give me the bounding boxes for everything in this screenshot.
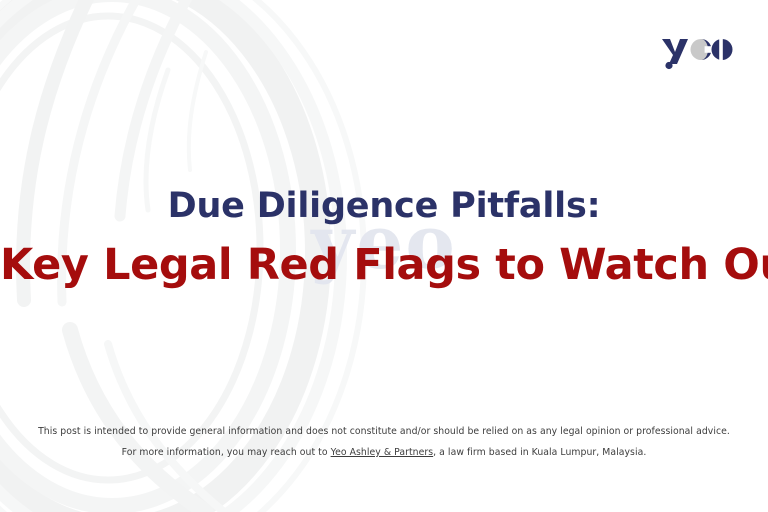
disclaimer-line-2-suffix: , a law firm based in Kuala Lumpur, Mala… [433,447,646,458]
logo-letter-o-icon [712,38,733,61]
disclaimer-line-2-prefix: For more information, you may reach out … [122,447,331,458]
post-card: yeo Due Diligence Pitfalls: Key Legal Re… [0,0,768,512]
headline-block: Due Diligence Pitfalls: Key Legal Red Fl… [0,186,768,291]
footer-disclaimer: This post is intended to provide general… [0,425,768,460]
logo-letter-e-icon [691,39,712,60]
logo-letter-y-icon [662,39,688,69]
page-title-line-2: Key Legal Red Flags to Watch Out For [0,241,768,291]
page-title-line-1: Due Diligence Pitfalls: [0,186,768,227]
disclaimer-line-1: This post is intended to provide general… [0,425,768,439]
disclaimer-line-2: For more information, you may reach out … [0,446,768,460]
yeo-logo [660,30,734,72]
law-firm-link[interactable]: Yeo Ashley & Partners [331,447,434,458]
